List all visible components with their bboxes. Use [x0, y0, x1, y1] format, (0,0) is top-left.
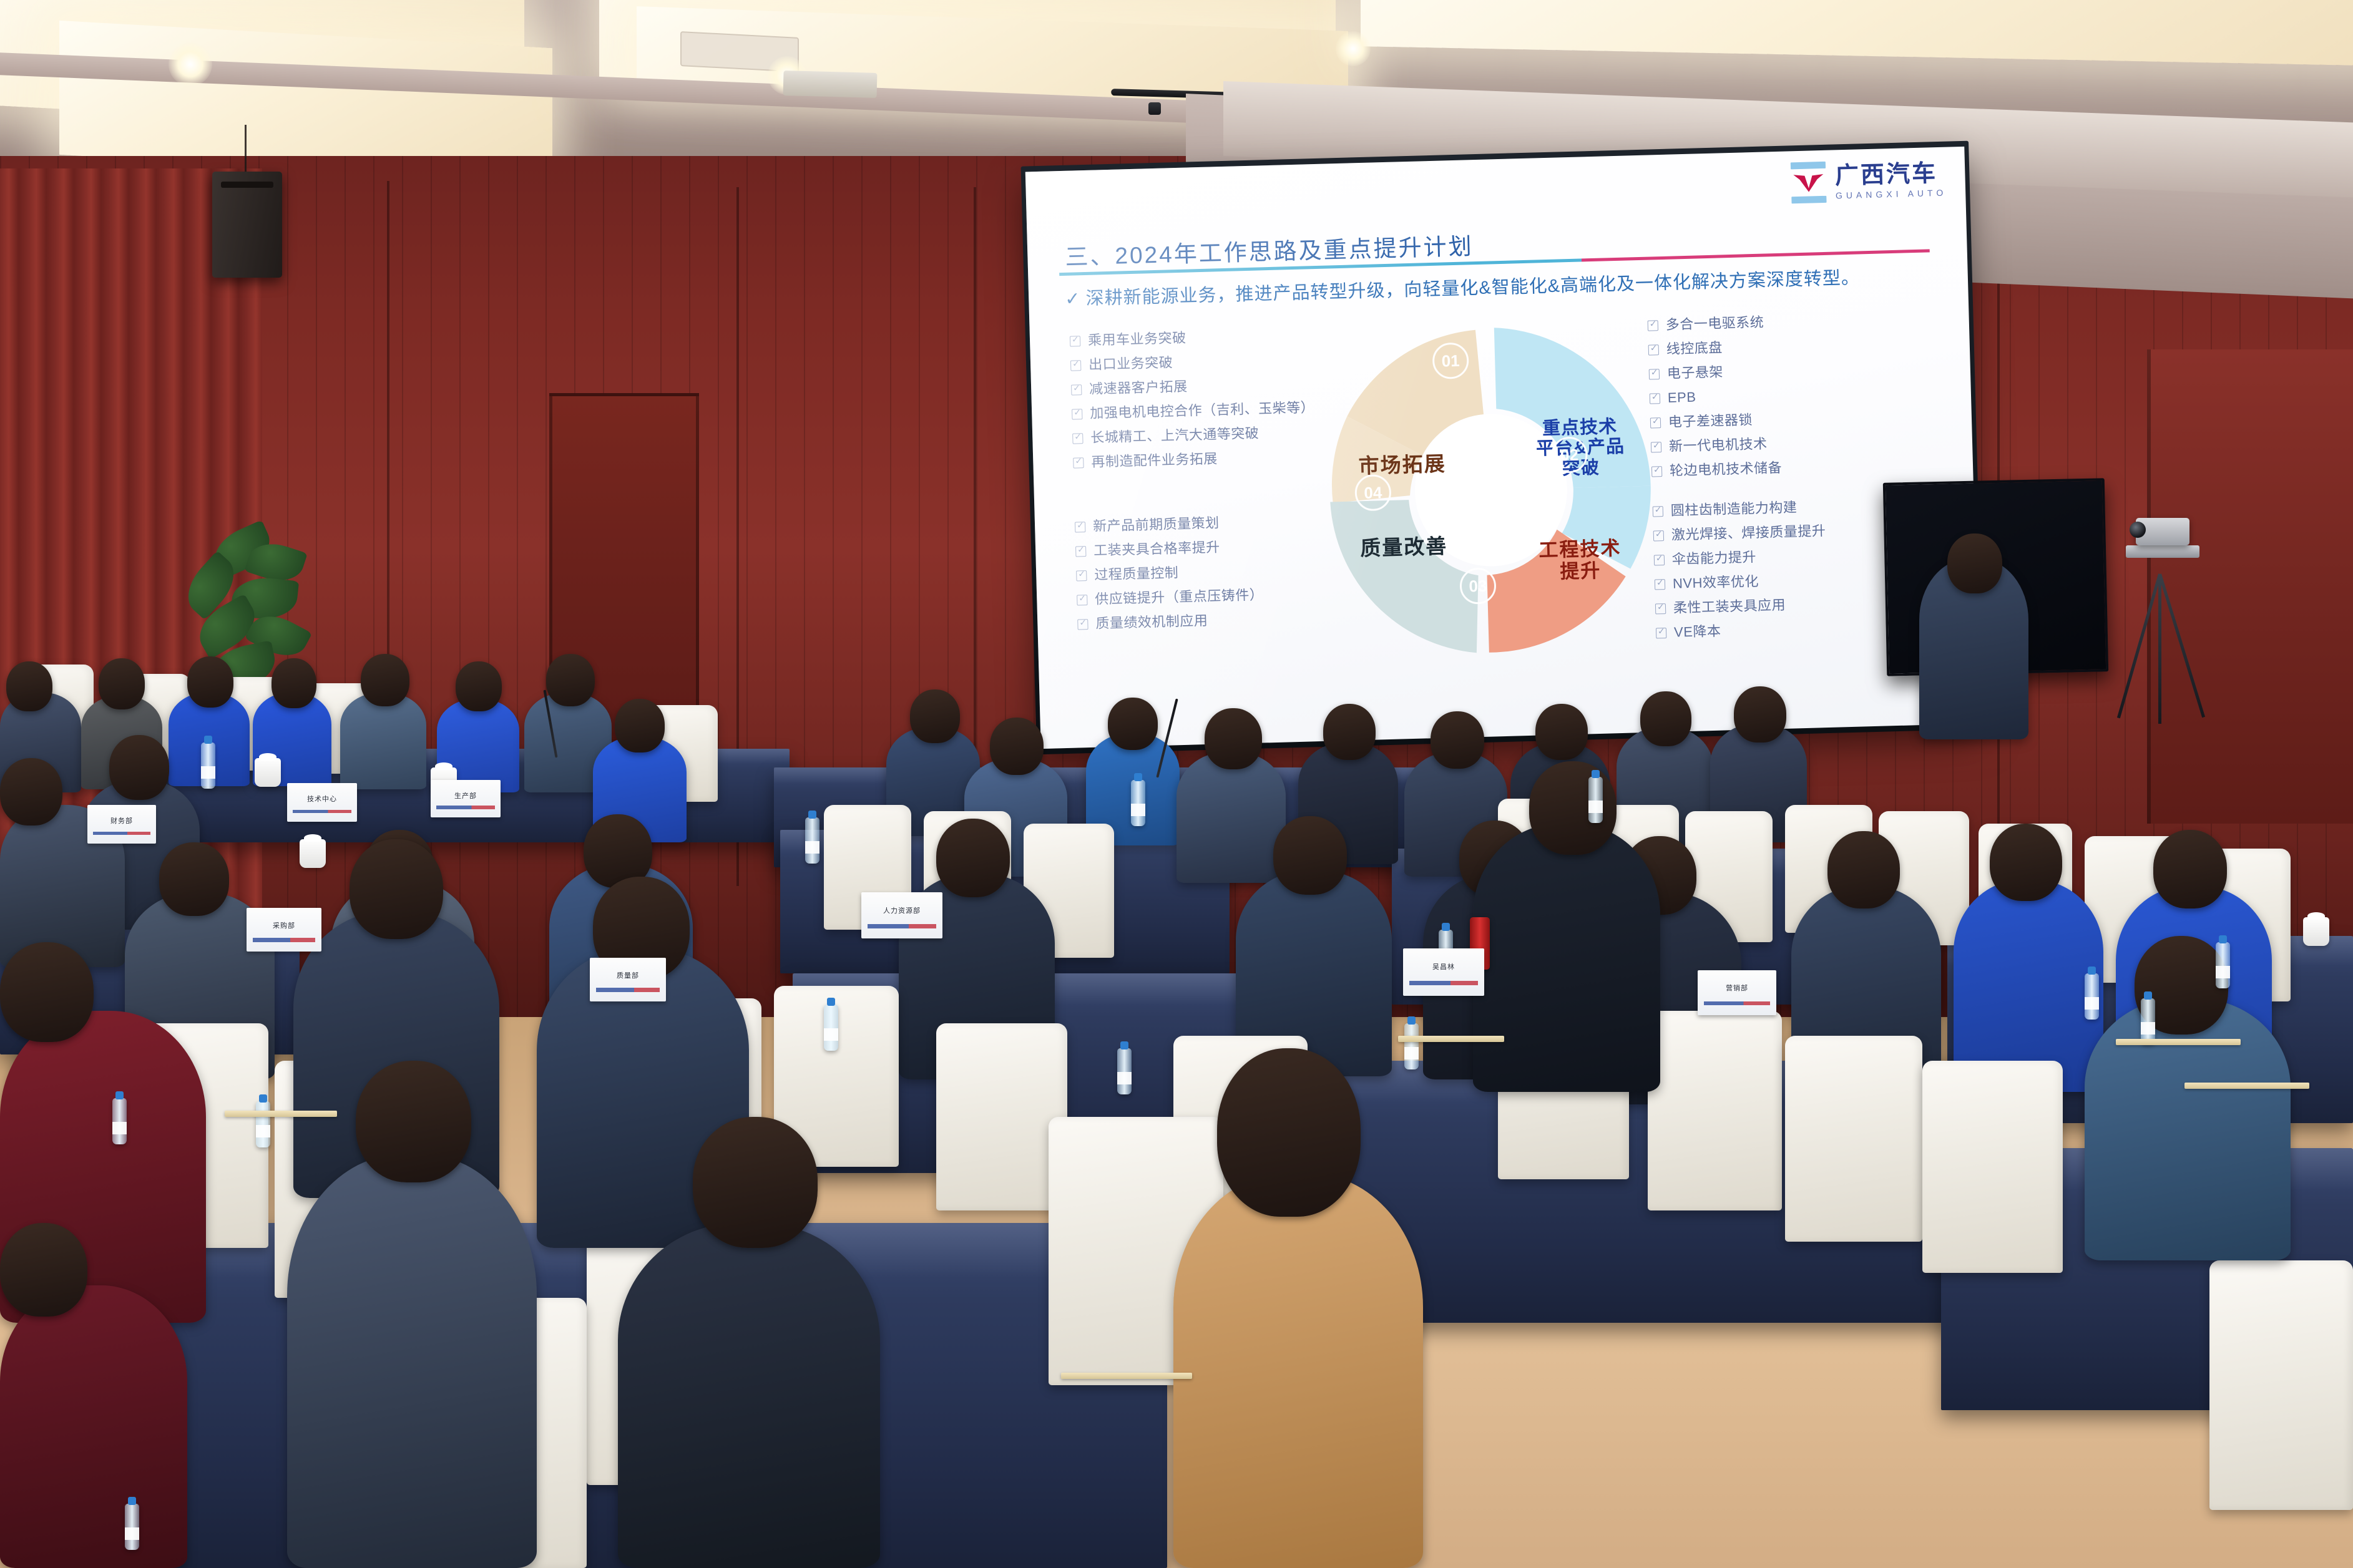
notebook	[1061, 1373, 1192, 1379]
attendee-head	[0, 758, 62, 825]
ceiling-projector-mount	[783, 71, 878, 98]
v-wing-svg	[1792, 172, 1825, 193]
guangxi-auto-mark-icon	[1788, 162, 1828, 204]
attendee-head	[159, 842, 229, 916]
attendee-head	[615, 699, 665, 752]
bullet-item: EPB	[1650, 384, 1937, 405]
bullet-label: 工装夹具合格率提升	[1093, 540, 1220, 557]
ptz-camera-icon[interactable]	[2136, 518, 2189, 545]
camera-lens-icon	[2130, 522, 2146, 538]
cycle-diagram: 市场拓展 重点技术平台&产品突破 工程技术提升 质量改善 01 02 03 04	[1311, 311, 1670, 670]
name-card-text: 营销部	[1698, 983, 1776, 993]
conference-chair[interactable]	[1785, 1036, 1922, 1242]
segment-label-line: 提升	[1505, 558, 1656, 584]
segment-label-line: 质量改善	[1331, 534, 1477, 561]
brand-logo: 广西汽车 GUANGXI AUTO	[1788, 158, 1947, 204]
attendee-body	[1176, 752, 1286, 883]
attendee-head	[936, 819, 1010, 897]
attendee-body	[287, 1154, 537, 1568]
projection-screen: 广西汽车 GUANGXI AUTO 三、2024年工作思路及重点提升计划 ✓深耕…	[1025, 147, 1980, 749]
attendee-body	[340, 693, 426, 789]
attendee-head	[271, 658, 316, 708]
bullet-label: 多合一电驱系统	[1665, 316, 1764, 332]
bullet-item: 电子悬架	[1649, 359, 1936, 381]
water-bottle	[1131, 780, 1145, 826]
attendee-head	[1431, 711, 1484, 769]
bullet-label: 供应链提升（重点压铸件）	[1095, 588, 1264, 606]
table-name-card: 营销部	[1698, 970, 1776, 1015]
segment-01-label: 市场拓展	[1330, 452, 1474, 479]
attendee-head	[910, 689, 960, 743]
water-bottle	[2141, 998, 2155, 1045]
checkbox-checked-icon	[1077, 595, 1087, 605]
brand-name-en: GUANGXI AUTO	[1836, 188, 1947, 200]
bullet-label: 长城精工、上汽大通等突破	[1090, 427, 1260, 445]
table-name-card: 财务部	[87, 805, 156, 844]
logo-bar-top	[1790, 162, 1825, 170]
attendee-body	[1954, 880, 2103, 1092]
conference-chair[interactable]	[1922, 1061, 2063, 1273]
checkbox-checked-icon	[1072, 409, 1082, 419]
segment-03-label: 工程技术提升	[1505, 537, 1656, 584]
bullet-label: 激光焊接、焊接质量提升	[1671, 524, 1826, 542]
attendee-body	[2085, 998, 2291, 1260]
bullet-label: VE降本	[1674, 625, 1721, 640]
attendee-head	[1323, 704, 1376, 760]
bullet-label: NVH效率优化	[1673, 575, 1759, 591]
name-card-text: 生产部	[431, 791, 501, 801]
brand-name-cn: 广西汽车	[1835, 161, 1947, 188]
table-name-card: 人力资源部	[861, 892, 942, 938]
table-name-card: 采购部	[247, 908, 321, 952]
checkbox-checked-icon	[1076, 570, 1087, 581]
attendee-head bald	[1734, 686, 1786, 743]
water-bottle	[1117, 1048, 1132, 1094]
attendee-head	[456, 661, 502, 711]
notebook	[2184, 1083, 2309, 1089]
ceiling-downlight	[169, 42, 212, 86]
conference-room-scene: 广西汽车 GUANGXI AUTO 三、2024年工作思路及重点提升计划 ✓深耕…	[0, 0, 2353, 1568]
attendee-head	[1273, 816, 1347, 895]
water-bottle	[125, 1504, 139, 1550]
bullet-label: 柔性工装夹具应用	[1673, 598, 1786, 615]
bullet-item: 多合一电驱系统	[1647, 311, 1934, 332]
attendee-head gray	[990, 718, 1044, 775]
water-bottle	[201, 743, 215, 789]
checkbox-checked-icon	[1075, 546, 1086, 557]
tea-cup	[255, 758, 281, 787]
notebook	[225, 1111, 337, 1117]
attendee-head	[1535, 704, 1588, 760]
checkbox-checked-icon	[1073, 457, 1084, 468]
attendee-body	[1473, 824, 1660, 1092]
attendee-head	[187, 656, 233, 708]
attendee-head	[350, 839, 443, 939]
water-bottle	[824, 1005, 838, 1051]
attendee-head	[1529, 761, 1617, 855]
bullet-label: 轮边电机技术储备	[1670, 461, 1783, 478]
camera-tripod	[2122, 518, 2197, 724]
attendee-head	[1827, 831, 1900, 908]
water-bottle	[256, 1101, 270, 1147]
bullet-label: 再制造配件业务拓展	[1091, 452, 1218, 469]
bullet-label: 电子悬架	[1667, 365, 1724, 380]
camera-mount-plate	[2126, 545, 2199, 558]
segment-04-label: 质量改善	[1331, 534, 1477, 561]
name-card-text: 采购部	[247, 920, 321, 930]
name-card-text: 吴昌林	[1403, 962, 1484, 971]
attendee-head	[693, 1117, 818, 1248]
wall-speaker	[212, 172, 282, 278]
presentation-slide: 广西汽车 GUANGXI AUTO 三、2024年工作思路及重点提升计划 ✓深耕…	[1025, 147, 1980, 749]
notebook	[1398, 1036, 1504, 1042]
attendee-head gray	[1205, 708, 1262, 769]
name-card-text: 人力资源部	[861, 905, 942, 915]
tea-cup	[2303, 917, 2329, 946]
name-card-text: 财务部	[87, 816, 156, 825]
bullet-label: 加强电机电控合作（吉利、玉柴等）	[1090, 401, 1314, 421]
speaker-cable	[245, 125, 247, 175]
brand-text: 广西汽车 GUANGXI AUTO	[1835, 161, 1947, 200]
bullet-label: 出口业务突破	[1088, 356, 1173, 372]
water-bottle	[2216, 942, 2230, 988]
bullet-label: 线控底盘	[1666, 341, 1723, 356]
water-bottle	[1588, 777, 1603, 823]
checkbox-checked-icon	[1070, 336, 1080, 346]
bullet-label: 减速器客户拓展	[1089, 380, 1188, 396]
bullet-label: EPB	[1668, 391, 1696, 405]
conference-chair[interactable]	[1648, 1011, 1782, 1210]
attendee-head bald	[1640, 691, 1691, 746]
bullet-label: 新产品前期质量策划	[1093, 516, 1220, 533]
checkbox-checked-icon	[1077, 619, 1088, 630]
conference-chair[interactable]	[2209, 1260, 2353, 1510]
tripod-leg	[2117, 573, 2161, 718]
water-bottle	[112, 1098, 127, 1144]
bullet-item: 线控底盘	[1648, 335, 1935, 356]
segment-label-line: 市场拓展	[1330, 452, 1474, 479]
attendee-head	[109, 735, 169, 800]
attendee-head	[2153, 830, 2227, 908]
bullet-label: 质量绩效机制应用	[1095, 614, 1208, 631]
attendee-head	[546, 654, 595, 706]
name-card-text: 技术中心	[287, 794, 357, 804]
attendee-head	[99, 658, 145, 709]
bullet-item: 轮边电机技术储备	[1651, 457, 1939, 478]
attendee-head	[0, 1223, 87, 1317]
bullet-label: 过程质量控制	[1094, 566, 1179, 582]
checkbox-checked-icon	[1070, 360, 1081, 371]
attendee-head	[1990, 824, 2062, 901]
water-bottle	[1404, 1023, 1419, 1069]
bullet-item: 新一代电机技术	[1651, 432, 1938, 454]
attendee-body	[0, 1285, 187, 1568]
attendee-head longhair	[1217, 1048, 1361, 1217]
attendee-body-coat	[1173, 1173, 1423, 1568]
name-card-text: 质量部	[590, 970, 666, 980]
water-bottle	[2085, 973, 2099, 1020]
attendee-body	[618, 1223, 880, 1568]
attendee-head	[0, 942, 94, 1042]
table-name-card: 生产部	[431, 780, 501, 817]
checkbox-checked-icon	[1072, 433, 1083, 444]
conference-chair[interactable]	[936, 1023, 1067, 1210]
table-name-card: 技术中心	[287, 783, 357, 822]
table-name-card: 质量部	[590, 958, 666, 1001]
bullet-label: 伞齿能力提升	[1672, 550, 1757, 567]
screen-surface: 广西汽车 GUANGXI AUTO 三、2024年工作思路及重点提升计划 ✓深耕…	[1025, 147, 1980, 749]
table-name-card: 吴昌林	[1403, 948, 1484, 996]
checkbox-checked-icon	[1071, 384, 1082, 395]
checkbox-checked-icon	[1075, 522, 1085, 532]
bullet-label: 电子差速器锁	[1668, 413, 1753, 429]
bullet-item: 电子差速器锁	[1650, 408, 1937, 429]
water-bottle	[805, 817, 819, 864]
attendee-head	[356, 1061, 471, 1182]
bullet-column-top-right: 多合一电驱系统线控底盘电子悬架EPB电子差速器锁新一代电机技术轮边电机技术储备	[1647, 311, 1939, 489]
bullet-label: 新一代电机技术	[1669, 437, 1768, 454]
track-light-head	[1148, 102, 1161, 115]
logo-bar-bottom	[1791, 196, 1826, 204]
attendee-head	[361, 654, 409, 706]
attendee-head	[1108, 698, 1158, 750]
notebook	[2116, 1039, 2241, 1045]
tripod-leg	[2158, 574, 2161, 724]
ceiling-downlight	[1336, 31, 1371, 66]
check-marker-icon: ✓	[1065, 289, 1081, 309]
presenter-head	[1947, 533, 2002, 593]
attendee-head	[6, 661, 52, 711]
v-wing-icon	[1791, 171, 1826, 195]
bullet-label: 乘用车业务突破	[1088, 331, 1186, 348]
tea-cup	[300, 839, 326, 868]
bullet-label: 圆柱齿制造能力构建	[1671, 500, 1798, 517]
slide-subtitle-text: 深耕新能源业务，推进产品转型升级，向轻量化&智能化&高端化及一体化解决方案深度转…	[1085, 268, 1860, 309]
